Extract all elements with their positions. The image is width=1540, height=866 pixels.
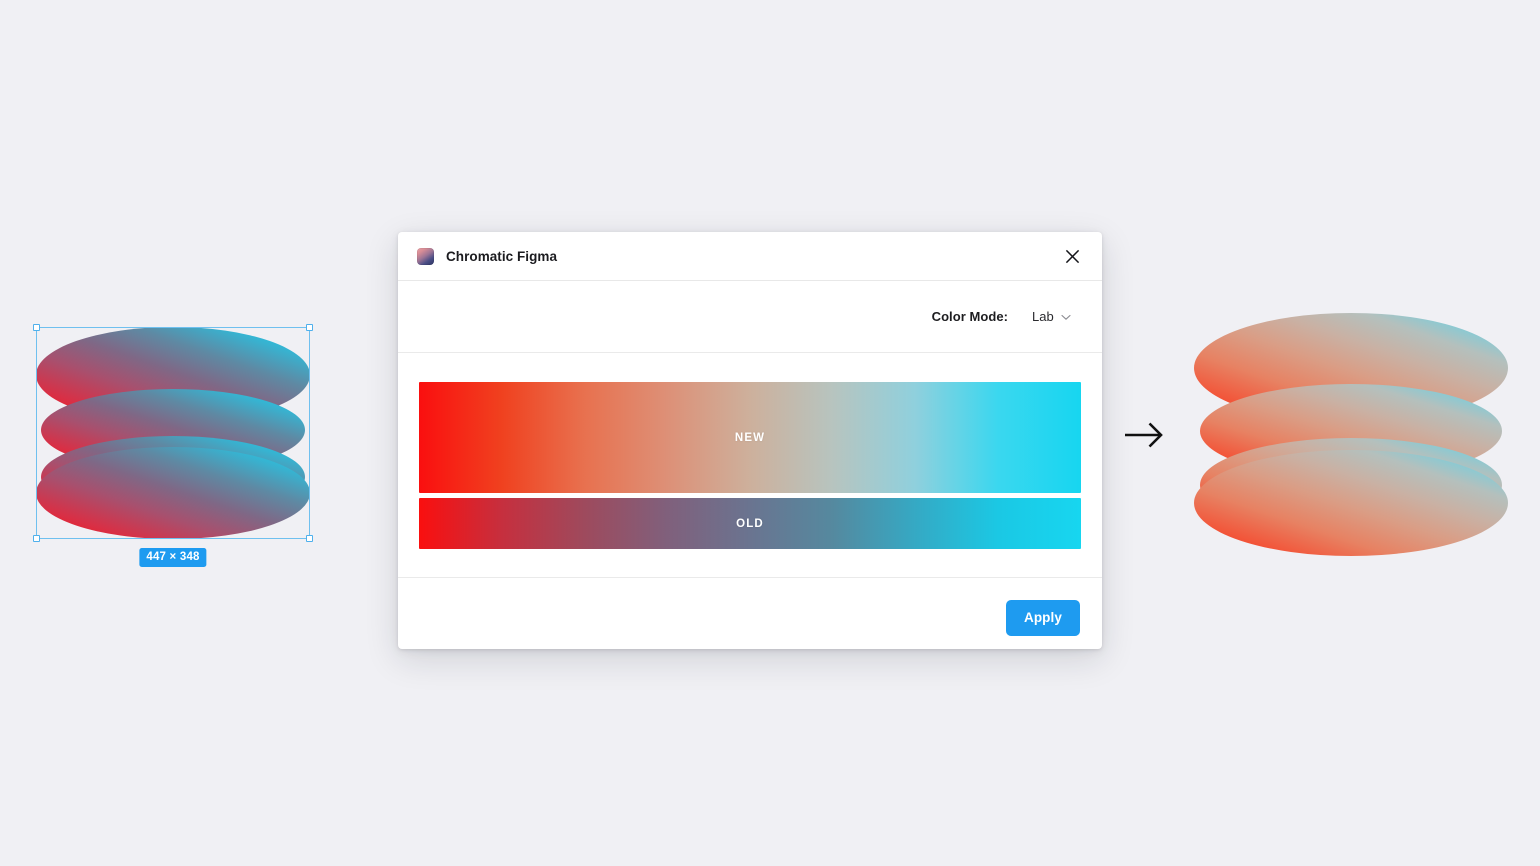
source-shape-group[interactable]: 447 × 348	[36, 327, 310, 539]
plugin-title: Chromatic Figma	[446, 249, 557, 264]
color-mode-label: Color Mode:	[932, 309, 1008, 324]
plugin-options-row: Color Mode: Lab	[398, 281, 1102, 353]
apply-button[interactable]: Apply	[1006, 600, 1080, 636]
gradient-bar-new: NEW	[419, 382, 1081, 493]
gradient-bar-new-label: NEW	[735, 432, 765, 444]
color-mode-value: Lab	[1032, 309, 1054, 324]
close-icon[interactable]	[1059, 243, 1085, 269]
result-shape-group[interactable]	[1194, 313, 1508, 556]
plugin-title-bar: Chromatic Figma	[398, 232, 1102, 281]
chevron-down-icon	[1061, 308, 1071, 326]
plugin-preview-body: NEW OLD	[398, 353, 1102, 578]
gradient-bar-old-label: OLD	[736, 518, 764, 530]
plugin-modal: Chromatic Figma Color Mode: Lab NEW OLD	[398, 232, 1102, 649]
gradient-preview: NEW OLD	[419, 382, 1081, 549]
result-shape[interactable]	[1194, 313, 1508, 556]
plugin-footer: Apply	[398, 578, 1102, 649]
plugin-logo-icon	[417, 248, 434, 265]
source-shape[interactable]	[36, 327, 310, 539]
arrow-right-icon	[1122, 417, 1166, 453]
selection-size-badge: 447 × 348	[139, 548, 206, 567]
gradient-bar-old: OLD	[419, 498, 1081, 549]
color-mode-dropdown[interactable]: Lab	[1030, 305, 1080, 329]
